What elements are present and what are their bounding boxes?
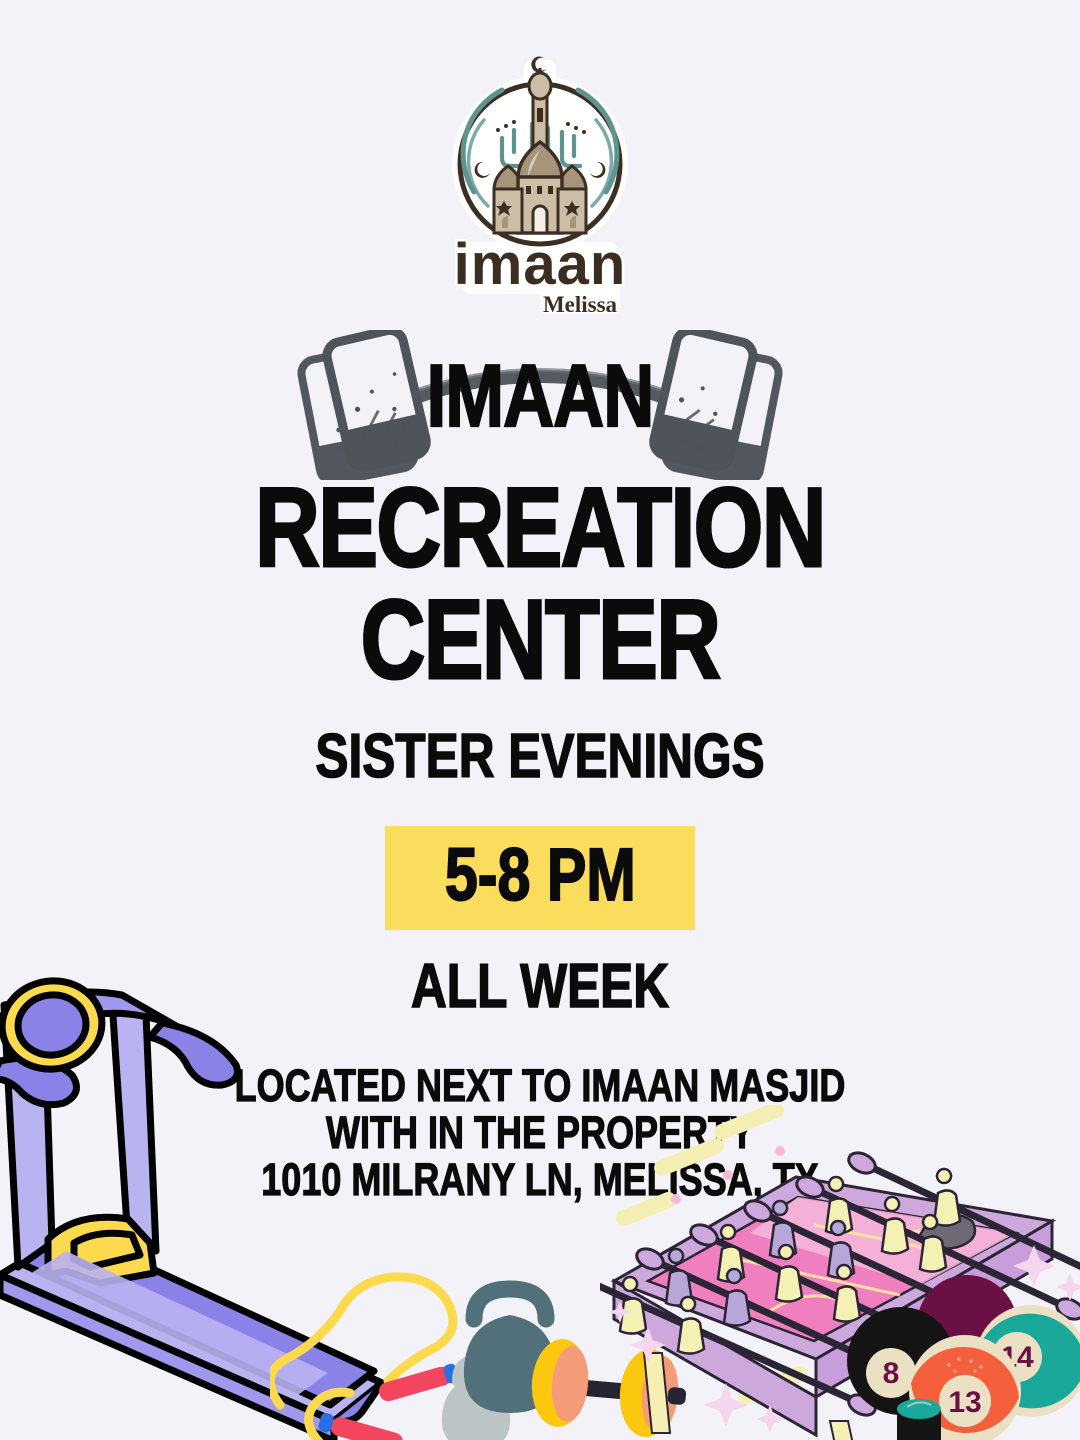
time-highlight-box: 5-8 PM [385,826,696,930]
poster-canvas: imaan Melissa [0,0,1080,1440]
billiard-ball-13: 13 [909,1335,1021,1440]
address-line-3: 1010 MILRANY LN, MELISSA, TX [108,1156,972,1203]
poster-text-block: IMAAN RECREATION CENTER SISTER EVENINGS … [0,330,1080,1203]
logo-sub-wordmark-text: Melissa [543,292,618,317]
subtitle-sister-evenings: SISTER EVENINGS [108,726,972,788]
billiard-number-13: 13 [948,1386,981,1419]
logo-sub-wordmark: Melissa [543,292,618,317]
heading-recreation-center: RECREATION CENTER [108,472,972,696]
logo-wordmark-text: imaan [454,232,627,297]
barbell-heading-row: IMAAN [0,330,1080,480]
kettlebell-dark [464,1289,556,1413]
billiard-number-8: 8 [883,1357,900,1390]
address-line-2: WITH IN THE PROPERTY [108,1109,972,1156]
logo-wordmark-imaan: imaan [454,232,627,297]
time-value: 5-8 PM [445,834,636,916]
billiard-balls-illustration: 14 8 13 [845,1275,1080,1440]
billiard-number-14: 14 [1000,1341,1034,1374]
kettlebell-light [442,1361,510,1440]
dumbbell-illustration [528,1337,689,1440]
address-block: LOCATED NEXT TO IMAAN MASJID WITH IN THE… [0,1062,1080,1203]
time-highlight-wrap: 5-8 PM [0,826,1080,930]
jump-rope-illustration [270,1277,460,1440]
gym-equipment-group [270,1255,700,1440]
time-frequency: ALL WEEK [108,956,972,1018]
address-line-1: LOCATED NEXT TO IMAAN MASJID [108,1062,972,1109]
imaan-melissa-logo: imaan Melissa [440,46,640,328]
billiard-ball-14: 14 [975,1305,1080,1417]
billiard-ball-purple [917,1275,1017,1375]
billiard-ball-8: 8 [847,1307,955,1415]
chalk-cube [897,1399,941,1440]
heading-imaan: IMAAN [108,352,972,440]
